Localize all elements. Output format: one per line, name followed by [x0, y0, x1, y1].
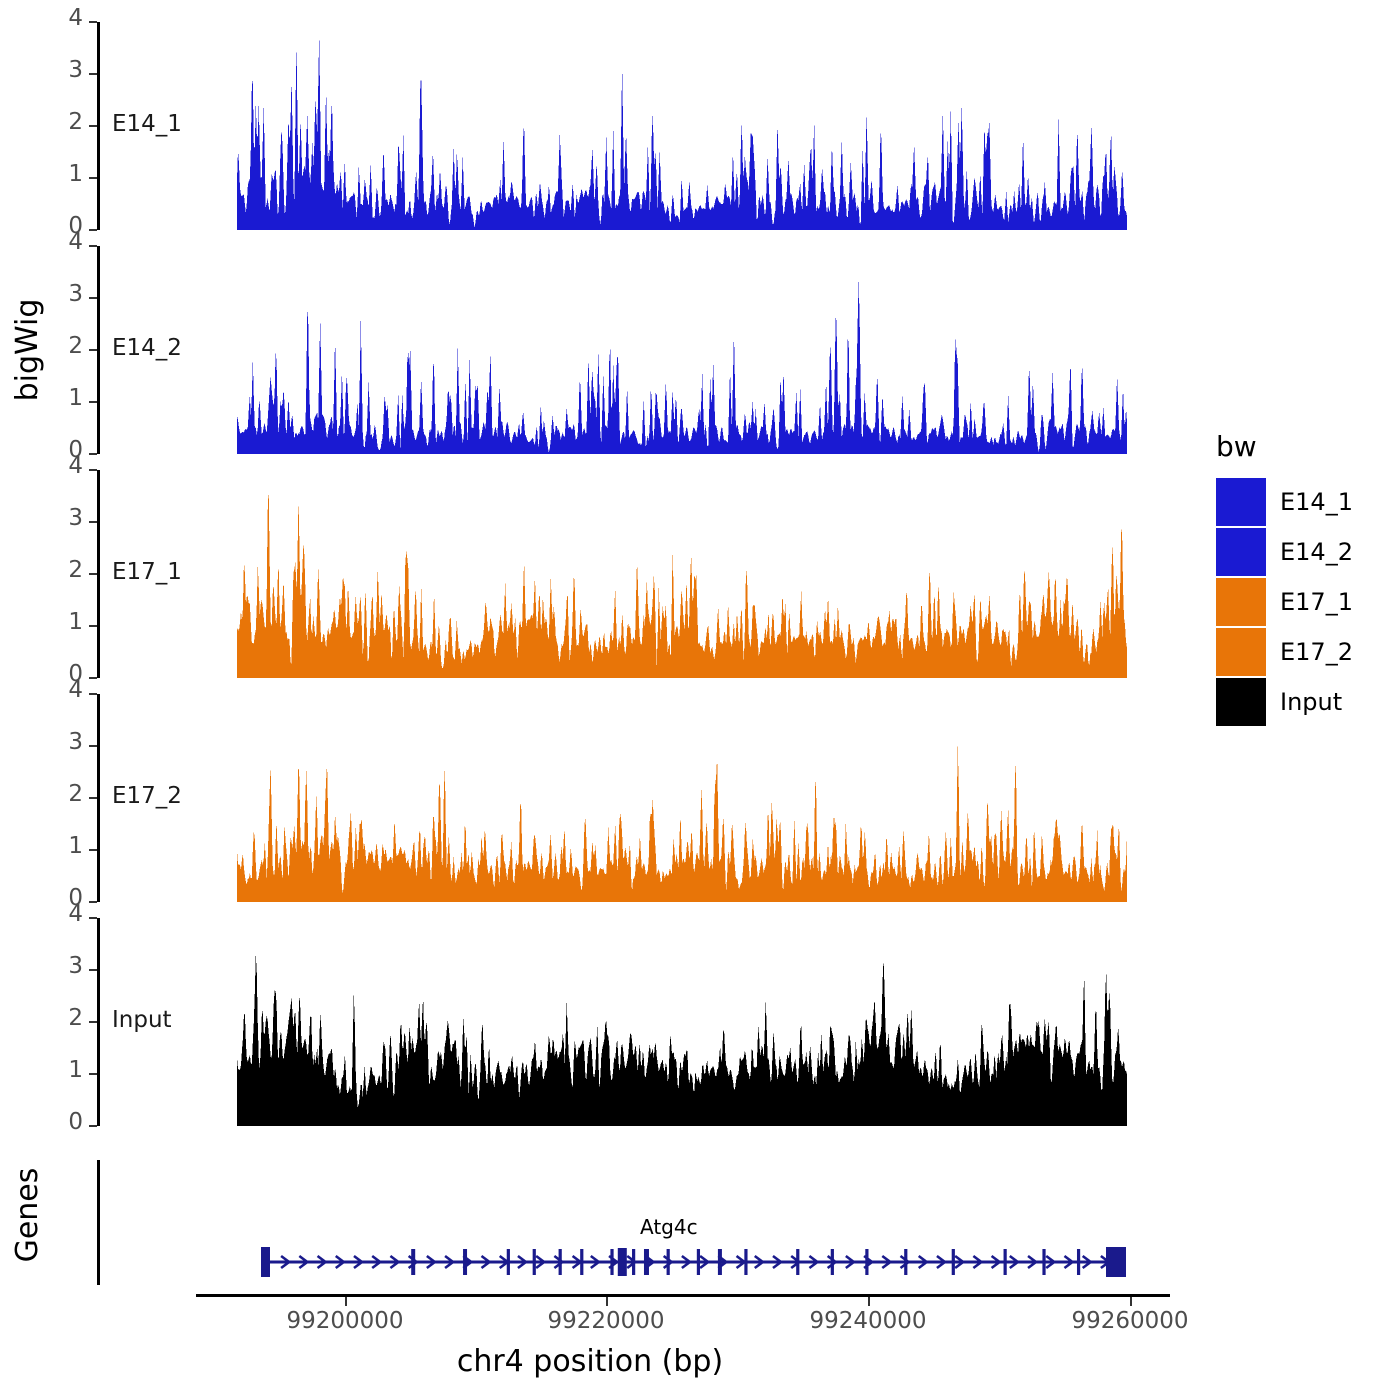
y-tick-label: 2: [43, 335, 83, 358]
x-tick-label: 99200000: [245, 1308, 445, 1334]
x-tick-label: 99220000: [506, 1308, 706, 1334]
coverage-area-e14_1: [237, 22, 1127, 230]
y-tick: [89, 401, 97, 403]
legend-items: E14_1E14_2E17_1E17_2Input: [1216, 477, 1353, 727]
y-tick: [89, 901, 97, 903]
y-tick-label: 1: [43, 163, 83, 186]
y-tick-label: 4: [43, 455, 83, 478]
legend-label: Input: [1280, 688, 1342, 716]
track-label-e17_1: E17_1: [112, 559, 182, 585]
bigwig-panel-e14_2: 01234E14_2: [0, 246, 1400, 454]
y-tick: [89, 469, 97, 471]
x-axis-line: [196, 1294, 1170, 1297]
gene-track: Atg4c: [0, 1155, 1180, 1290]
y-axis-line: [97, 22, 100, 230]
y-tick-label: 0: [43, 1111, 83, 1134]
y-tick: [89, 969, 97, 971]
y-tick: [89, 693, 97, 695]
y-tick-label: 1: [43, 835, 83, 858]
legend-swatch-icon: [1216, 528, 1266, 576]
y-tick: [89, 521, 97, 523]
y-tick: [89, 245, 97, 247]
legend-label: E17_1: [1280, 588, 1353, 616]
legend-item-e14_1[interactable]: E14_1: [1216, 477, 1353, 527]
legend-label: E17_2: [1280, 638, 1353, 666]
y-tick: [89, 1125, 97, 1127]
y-tick: [89, 797, 97, 799]
x-tick: [868, 1297, 870, 1306]
track-label-e17_2: E17_2: [112, 783, 182, 809]
y-tick: [89, 1073, 97, 1075]
track-label-e14_1: E14_1: [112, 111, 182, 137]
y-tick-label: 1: [43, 611, 83, 634]
y-axis-line: [97, 246, 100, 454]
y-tick: [89, 453, 97, 455]
legend-item-e17_1[interactable]: E17_1: [1216, 577, 1353, 627]
y-tick-label: 3: [43, 731, 83, 754]
y-tick: [89, 349, 97, 351]
y-tick: [89, 917, 97, 919]
legend-swatch-icon: [1216, 478, 1266, 526]
y-tick: [89, 745, 97, 747]
y-tick: [89, 21, 97, 23]
bigwig-panel-input: 01234Input: [0, 918, 1400, 1126]
legend-label: E14_1: [1280, 488, 1353, 516]
legend-title: bw: [1216, 430, 1353, 463]
y-tick: [89, 73, 97, 75]
legend-item-e14_2[interactable]: E14_2: [1216, 527, 1353, 577]
y-tick-label: 1: [43, 387, 83, 410]
y-tick-label: 3: [43, 59, 83, 82]
y-tick: [89, 573, 97, 575]
track-label-e14_2: E14_2: [112, 335, 182, 361]
legend-swatch-icon: [1216, 628, 1266, 676]
y-tick-label: 3: [43, 955, 83, 978]
x-tick-label: 99260000: [1030, 1308, 1230, 1334]
y-tick-label: 1: [43, 1059, 83, 1082]
y-tick: [89, 677, 97, 679]
bigwig-panel-e14_1: 01234E14_1: [0, 22, 1400, 230]
x-tick: [345, 1297, 347, 1306]
coverage-area-input: [237, 918, 1127, 1126]
bigwig-panel-e17_1: 01234E17_1: [0, 470, 1400, 678]
y-tick: [89, 625, 97, 627]
x-tick: [606, 1297, 608, 1306]
y-tick-label: 2: [43, 783, 83, 806]
y-tick: [89, 229, 97, 231]
legend-item-e17_2[interactable]: E17_2: [1216, 627, 1353, 677]
coverage-area-e17_1: [237, 470, 1127, 678]
y-axis-line: [97, 918, 100, 1126]
y-tick: [89, 1021, 97, 1023]
legend-label: E14_2: [1280, 538, 1353, 566]
y-tick-label: 3: [43, 507, 83, 530]
y-tick: [89, 125, 97, 127]
legend: bw E14_1E14_2E17_1E17_2Input: [1216, 430, 1353, 727]
y-axis-line: [97, 694, 100, 902]
x-tick: [1130, 1297, 1132, 1306]
coverage-area-e14_2: [237, 246, 1127, 454]
legend-item-input[interactable]: Input: [1216, 677, 1353, 727]
y-tick: [89, 849, 97, 851]
y-axis-line: [97, 470, 100, 678]
y-tick: [89, 297, 97, 299]
y-tick-label: 4: [43, 903, 83, 926]
y-tick-label: 2: [43, 559, 83, 582]
y-tick-label: 4: [43, 679, 83, 702]
bigwig-panel-e17_2: 01234E17_2: [0, 694, 1400, 902]
x-axis-title: chr4 position (bp): [0, 1344, 1180, 1379]
y-tick-label: 2: [43, 111, 83, 134]
x-tick-label: 99240000: [768, 1308, 968, 1334]
y-tick-label: 3: [43, 283, 83, 306]
legend-swatch-icon: [1216, 678, 1266, 726]
y-tick-label: 4: [43, 231, 83, 254]
legend-swatch-icon: [1216, 578, 1266, 626]
y-tick: [89, 177, 97, 179]
coverage-area-e17_2: [237, 694, 1127, 902]
track-label-input: Input: [112, 1007, 172, 1033]
y-tick-label: 2: [43, 1007, 83, 1030]
y-tick-label: 4: [43, 7, 83, 30]
